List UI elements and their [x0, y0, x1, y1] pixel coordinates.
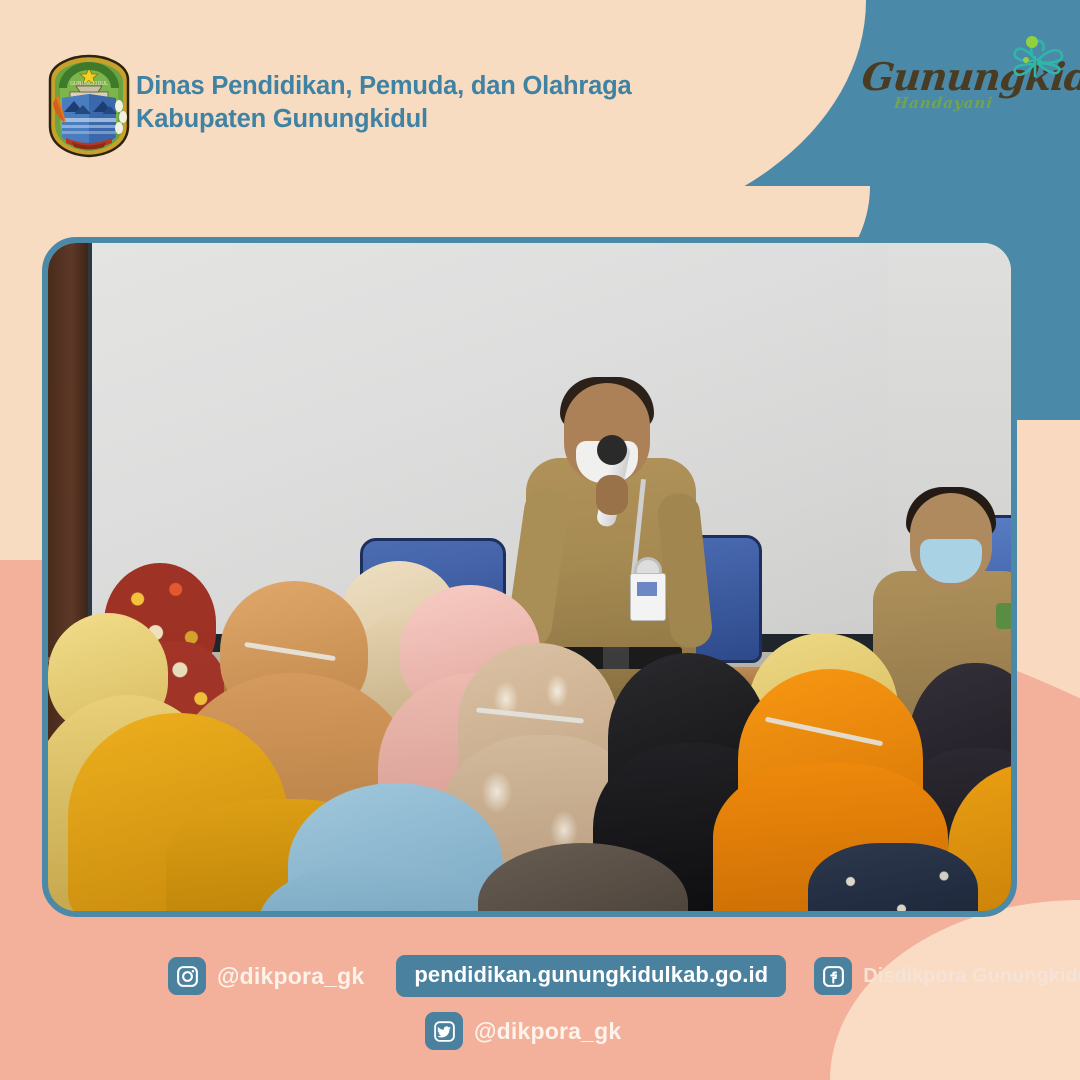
facebook-page-name[interactable]: Disdikpora Gunungkidul [863, 965, 1080, 988]
event-photo [48, 243, 1011, 911]
instagram-icon[interactable] [168, 957, 206, 995]
twitter-icon[interactable] [425, 1012, 463, 1050]
twitter-handle[interactable]: @dikpora_gk [474, 1018, 621, 1045]
facebook-icon[interactable] [814, 957, 852, 995]
instagram-handle[interactable]: @dikpora_gk [217, 963, 364, 990]
website-url-pill[interactable]: pendidikan.gunungkidulkab.go.id [396, 955, 786, 997]
header: GUNUNGKIDUL [0, 0, 1080, 190]
gunungkidul-regency-crest-icon: GUNUNGKIDUL [46, 54, 132, 158]
footer-social-bar: @dikpora_gk pendidikan.gunungkidulkab.go… [0, 940, 1080, 1080]
footer-row-primary: @dikpora_gk pendidikan.gunungkidulkab.go… [168, 955, 1080, 997]
org-name-line1: Dinas Pendidikan, Pemuda, dan Olahraga [136, 70, 776, 103]
facebook-link[interactable]: Disdikpora Gunungkidul [814, 957, 1080, 995]
dragonfly-icon [1002, 30, 1066, 88]
event-photo-frame [42, 237, 1017, 917]
brand-tagline: Handayani [893, 94, 994, 112]
photo-vignette [48, 243, 1011, 911]
page-title: Dinas Pendidikan, Pemuda, dan Olahraga K… [136, 70, 776, 135]
org-name-line2: Kabupaten Gunungkidul [136, 103, 776, 136]
gunungkidul-handayani-logo: Gunungkidul Handayani [850, 16, 1070, 124]
poster-canvas: GUNUNGKIDUL [0, 0, 1080, 1080]
footer-row-secondary: @dikpora_gk [425, 1012, 621, 1050]
